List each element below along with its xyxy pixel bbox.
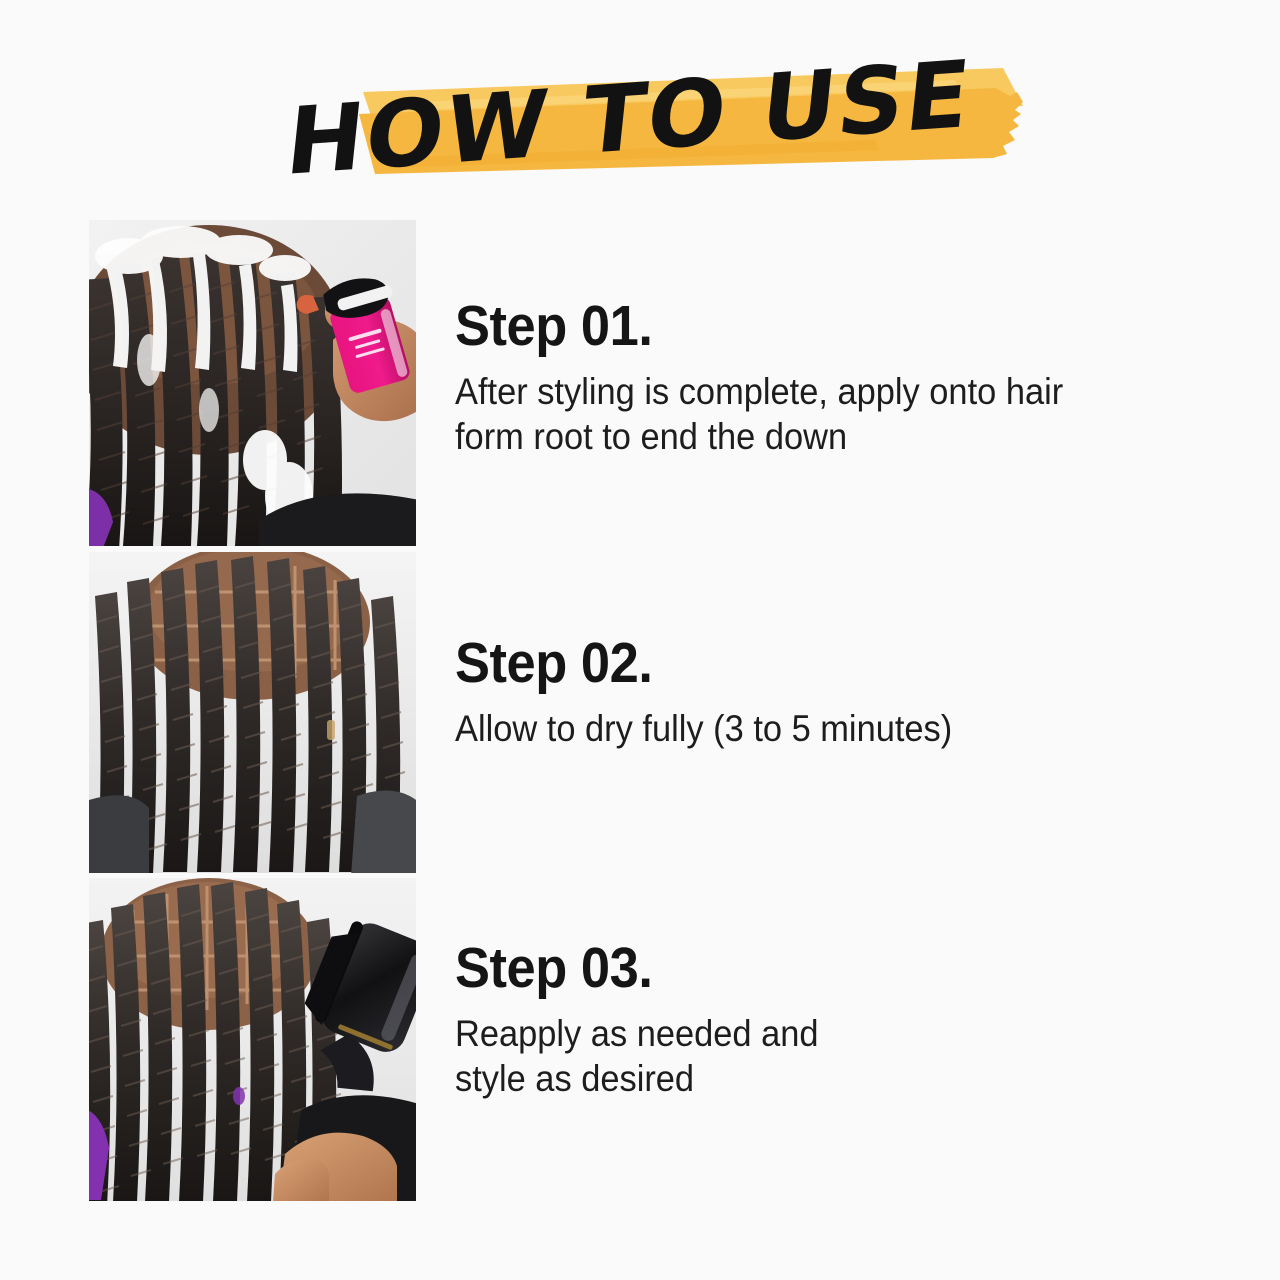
step-item-1: Step 01. After styling is complete, appl… xyxy=(455,298,1245,459)
page-header: HOW TO USE xyxy=(0,52,1280,192)
step-2-description: Allow to dry fully (3 to 5 minutes) xyxy=(455,706,1190,751)
step-3-photo xyxy=(89,878,416,1201)
step-item-3: Step 03. Reapply as needed and style as … xyxy=(455,940,1245,1101)
step-3-description: Reapply as needed and style as desired xyxy=(455,1011,1190,1101)
step-2-title: Step 02. xyxy=(455,635,1182,692)
step-item-2: Step 02. Allow to dry fully (3 to 5 minu… xyxy=(455,635,1245,751)
step-1-title: Step 01. xyxy=(455,298,1182,355)
step-2-photo xyxy=(89,552,416,873)
step-1-photo xyxy=(89,220,416,546)
step-photo-column xyxy=(89,220,416,1201)
highlighter-stroke xyxy=(355,62,1055,182)
step-1-description: After styling is complete, apply onto ha… xyxy=(455,369,1190,459)
step-3-title: Step 03. xyxy=(455,940,1182,997)
